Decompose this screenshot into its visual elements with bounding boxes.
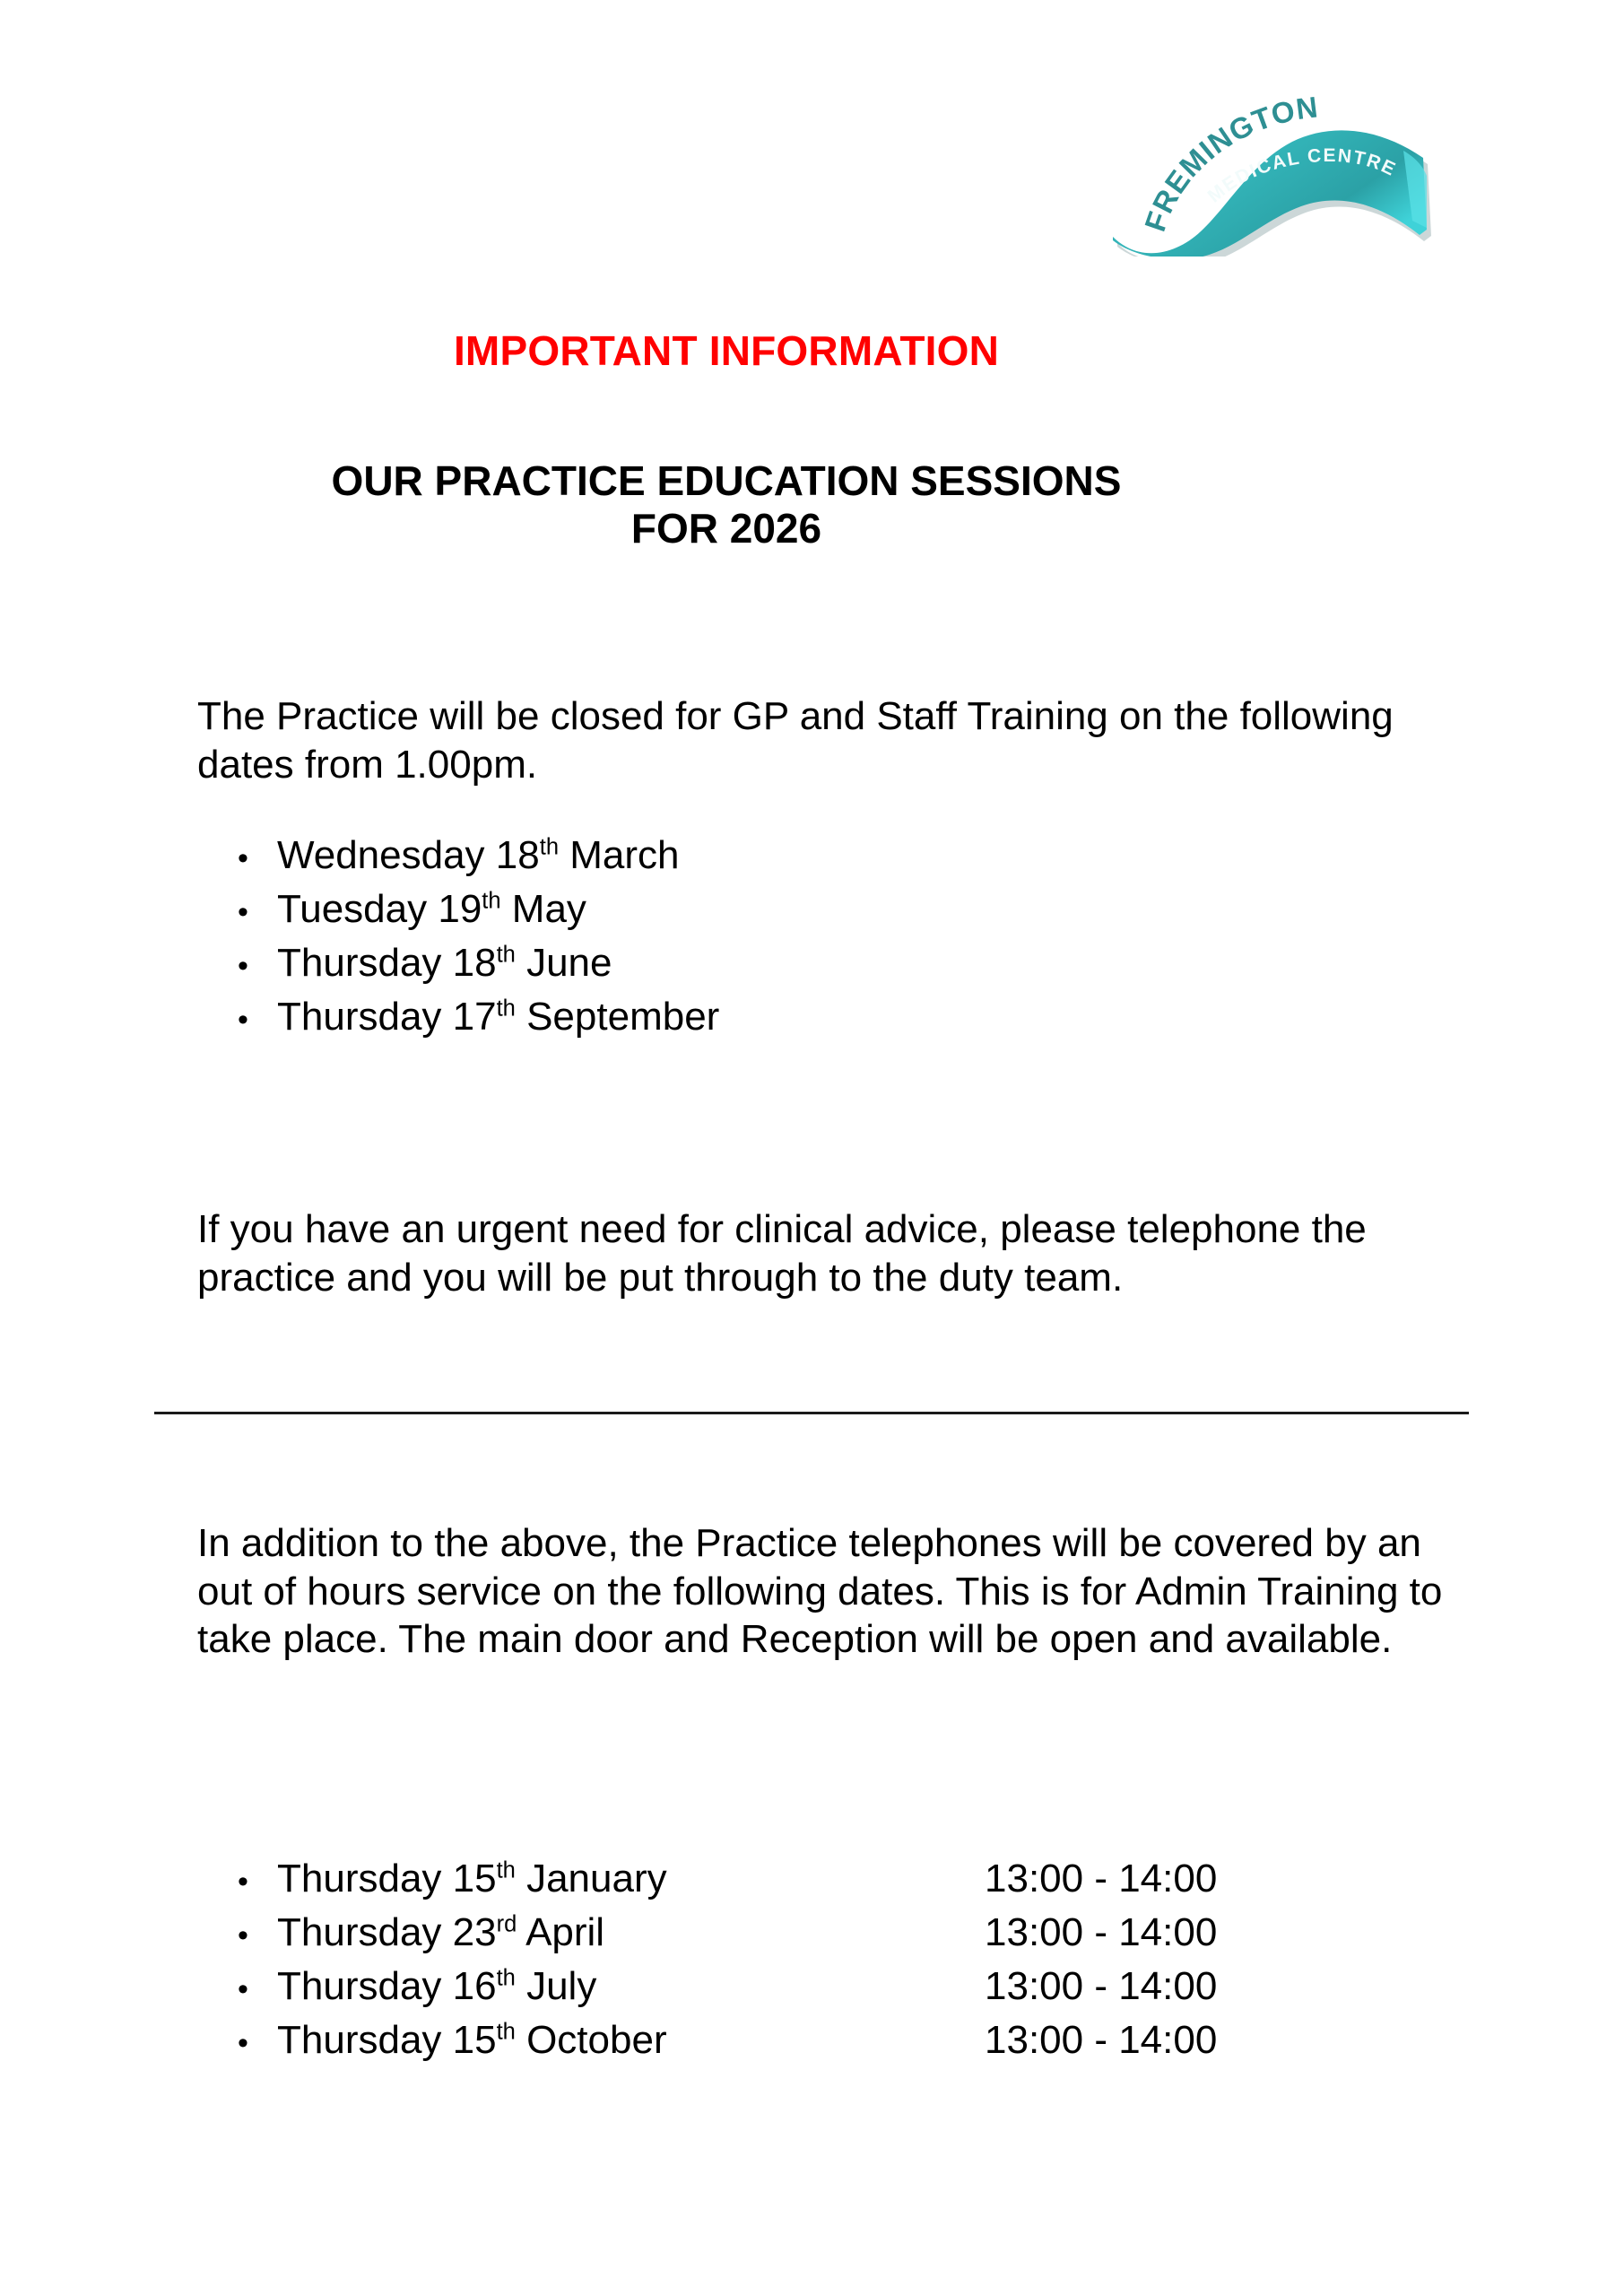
ordinal-suffix: th [497, 1965, 516, 1990]
time-range: 13:00 - 14:00 [985, 1960, 1217, 2013]
list-item: Thursday 23rd April13:00 - 14:00 [238, 1906, 1457, 1960]
date-label: Thursday 17th September [277, 990, 719, 1044]
time-range: 13:00 - 14:00 [985, 2013, 1217, 2067]
subtitle-line-1: OUR PRACTICE EDUCATION SESSIONS [332, 457, 1122, 504]
bullet-dot-icon [238, 1962, 277, 2016]
admin-training-paragraph: In addition to the above, the Practice t… [197, 1519, 1471, 1664]
list-item: Thursday 15th January13:00 - 14:00 [238, 1852, 1457, 1906]
bullet-dot-icon [238, 1855, 277, 1909]
time-range: 13:00 - 14:00 [985, 1906, 1217, 1960]
page-subtitle-sessions: OUR PRACTICE EDUCATION SESSIONS FOR 2026 [0, 457, 1453, 553]
admin-dates-list: Thursday 15th January13:00 - 14:00Thursd… [238, 1852, 1457, 2067]
date-label: Thursday 23rd April [277, 1906, 604, 1960]
bullet-dot-icon [238, 1909, 277, 1962]
ordinal-suffix: th [497, 996, 516, 1021]
section-divider [154, 1412, 1469, 1414]
closure-paragraph: The Practice will be closed for GP and S… [197, 692, 1471, 788]
date-label: Tuesday 19th May [277, 883, 586, 936]
bullet-dot-icon [238, 939, 277, 993]
urgent-advice-paragraph: If you have an urgent need for clinical … [197, 1205, 1471, 1301]
page-title-important: IMPORTANT INFORMATION [0, 326, 1453, 375]
date-label: Wednesday 18th March [277, 829, 680, 883]
ordinal-suffix: th [497, 942, 516, 967]
logo-wave-icon: FREMINGTON MEDICAL CENTRE [1107, 86, 1439, 257]
bullet-dot-icon [238, 993, 277, 1047]
date-label: Thursday 15th October [277, 2013, 667, 2067]
ordinal-suffix: rd [497, 1911, 517, 1936]
ordinal-suffix: th [482, 888, 500, 913]
closure-dates-list: Wednesday 18th MarchTuesday 19th MayThur… [238, 829, 719, 1044]
list-item: Tuesday 19th May [238, 883, 719, 936]
list-item: Thursday 15th October13:00 - 14:00 [238, 2013, 1457, 2067]
ordinal-suffix: th [497, 2019, 516, 2044]
list-item: Thursday 18th June [238, 936, 719, 990]
date-label: Thursday 15th January [277, 1852, 667, 1906]
ordinal-suffix: th [540, 834, 559, 859]
bullet-dot-icon [238, 831, 277, 885]
bullet-dot-icon [238, 885, 277, 939]
date-label: Thursday 18th June [277, 936, 612, 990]
list-item: Thursday 17th September [238, 990, 719, 1044]
ordinal-suffix: th [497, 1857, 516, 1883]
date-label: Thursday 16th July [277, 1960, 596, 2013]
list-item: Wednesday 18th March [238, 829, 719, 883]
list-item: Thursday 16th July13:00 - 14:00 [238, 1960, 1457, 2013]
subtitle-line-2: FOR 2026 [0, 505, 1453, 552]
time-range: 13:00 - 14:00 [985, 1852, 1217, 1906]
bullet-dot-icon [238, 2016, 277, 2070]
practice-logo: FREMINGTON MEDICAL CENTRE [1107, 86, 1439, 257]
